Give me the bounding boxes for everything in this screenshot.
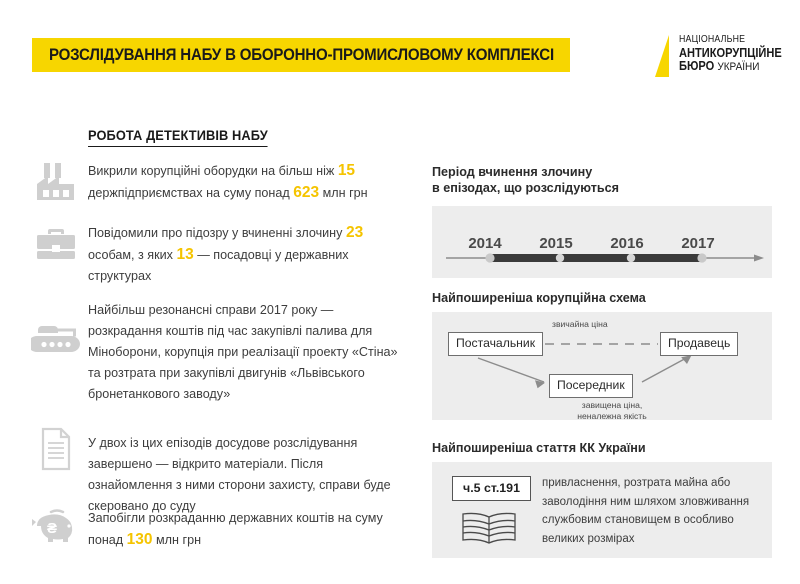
- article-badge: ч.5 ст.191: [452, 476, 531, 501]
- timeline-title: Період вчинення злочину в епізодах, що р…: [432, 164, 619, 196]
- document-icon: [28, 427, 84, 471]
- piggy-bank-icon: ₴: [28, 506, 84, 546]
- timeline-year-label: 2017: [681, 235, 714, 252]
- highlight-number: 623: [293, 184, 319, 201]
- article-text: привласнення, розтрата майна або заволод…: [542, 474, 760, 548]
- article-panel: ч.5 ст.191 привласнення, розтрата майна …: [432, 462, 772, 558]
- highlight-number: 13: [176, 246, 193, 263]
- scheme-panel: Постачальник Продавець Посередник звичай…: [432, 312, 772, 420]
- timeline-year-label: 2014: [468, 235, 502, 252]
- scheme-node-seller: Продавець: [660, 332, 738, 356]
- fact-text: Викрили корупційні оборудки на більш ніж…: [88, 160, 400, 204]
- scheme-label-inflated-line2: неналежна якість: [552, 411, 672, 422]
- timeline-year-label: 2016: [610, 235, 643, 252]
- article-title: Найпоширеніша стаття КК України: [432, 440, 646, 456]
- scheme-label-inflated-line1: завищена ціна,: [552, 400, 672, 411]
- right-column: КОРУПЦІЯ В ДЕТАЛЯХ Період вчинення злочи…: [420, 0, 800, 584]
- highlight-number: 130: [127, 531, 153, 548]
- scheme-node-supplier: Постачальник: [448, 332, 543, 356]
- left-column-heading: РОБОТА ДЕТЕКТИВІВ НАБУ: [88, 128, 268, 147]
- scheme-title: Найпоширеніша корупційна схема: [432, 290, 646, 306]
- highlight-number: 23: [346, 224, 363, 241]
- left-column: РОБОТА ДЕТЕКТИВІВ НАБУ Викрили корупційн…: [0, 0, 420, 584]
- fact-text: Запобігли розкраданню державних коштів н…: [88, 508, 400, 551]
- timeline-title-line1: Період вчинення злочину: [432, 164, 619, 180]
- fact-text: Найбільш резонансні справи 2017 року — р…: [88, 300, 400, 405]
- fact-text: У двох із цих епізодів досудове розсліду…: [88, 433, 400, 517]
- fact-text: Повідомили про підозру у вчиненні злочин…: [88, 222, 400, 287]
- factory-icon: [28, 162, 84, 202]
- timeline-graphic: 2014 2015 2016 2017: [432, 206, 772, 278]
- open-book-icon: [460, 510, 518, 550]
- scheme-label-normal-price: звичайна ціна: [552, 319, 608, 330]
- timeline-title-line2: в епізодах, що розслідуються: [432, 180, 619, 196]
- svg-text:₴: ₴: [47, 520, 57, 537]
- tank-icon: [28, 322, 84, 356]
- highlight-number: 15: [338, 162, 355, 179]
- timeline-year-label: 2015: [539, 235, 572, 252]
- briefcase-icon: [28, 226, 84, 262]
- timeline-panel: 2014 2015 2016 2017: [432, 206, 772, 278]
- scheme-label-inflated-price: завищена ціна, неналежна якість: [552, 400, 672, 421]
- scheme-node-middleman: Посередник: [549, 374, 633, 398]
